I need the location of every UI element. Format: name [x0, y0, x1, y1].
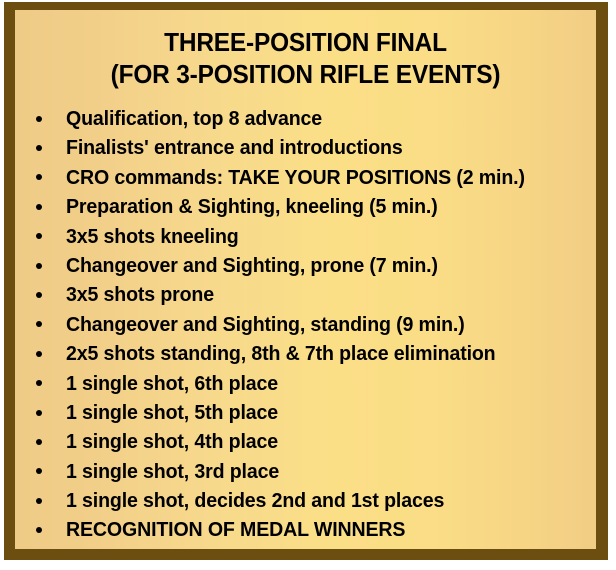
list-item: Qualification, top 8 advance [25, 104, 585, 133]
list-item-label: 1 single shot, 3rd place [66, 457, 279, 486]
list-item: 1 single shot, 3rd place [25, 457, 585, 486]
list-item-label: 1 single shot, decides 2nd and 1st place… [66, 486, 444, 515]
bullet-dot-icon [36, 204, 42, 210]
list-item-label: 1 single shot, 6th place [66, 369, 278, 398]
panel-content: THREE-POSITION FINAL (FOR 3-POSITION RIF… [15, 10, 596, 549]
bullet-dot-icon [36, 468, 42, 474]
bullet-dot-icon [36, 498, 42, 504]
list-item: RECOGNITION OF MEDAL WINNERS [25, 515, 585, 544]
framed-slide-panel: THREE-POSITION FINAL (FOR 3-POSITION RIF… [4, 2, 608, 560]
agenda-list: Qualification, top 8 advanceFinalists' e… [25, 104, 585, 545]
bullet-dot-icon [36, 380, 42, 386]
list-item-label: 1 single shot, 5th place [66, 398, 278, 427]
bullet-dot-icon [36, 351, 42, 357]
list-item-label: 3x5 shots kneeling [66, 222, 239, 251]
bullet-dot-icon [36, 233, 42, 239]
list-item: Changeover and Sighting, standing (9 min… [25, 310, 585, 339]
list-item-label: Finalists' entrance and introductions [66, 133, 403, 162]
bullet-dot-icon [36, 174, 42, 180]
list-item-label: Changeover and Sighting, prone (7 min.) [66, 251, 438, 280]
list-item: 3x5 shots kneeling [25, 222, 585, 251]
bullet-dot-icon [36, 439, 42, 445]
page-title-line-1: THREE-POSITION FINAL [32, 26, 578, 58]
list-item-label: Changeover and Sighting, standing (9 min… [66, 310, 465, 339]
list-item: 2x5 shots standing, 8th & 7th place elim… [25, 339, 585, 368]
page-title-line-2: (FOR 3-POSITION RIFLE EVENTS) [32, 58, 578, 90]
list-item: 1 single shot, decides 2nd and 1st place… [25, 486, 585, 515]
list-item-label: 2x5 shots standing, 8th & 7th place elim… [66, 339, 496, 368]
bullet-dot-icon [36, 527, 42, 533]
bullet-dot-icon [36, 263, 42, 269]
list-item: CRO commands: TAKE YOUR POSITIONS (2 min… [25, 163, 585, 192]
page-title: THREE-POSITION FINAL (FOR 3-POSITION RIF… [15, 26, 596, 90]
list-item: Finalists' entrance and introductions [25, 133, 585, 162]
list-item: Changeover and Sighting, prone (7 min.) [25, 251, 585, 280]
list-item: 3x5 shots prone [25, 280, 585, 309]
list-item-label: 3x5 shots prone [66, 280, 214, 309]
list-item-label: Qualification, top 8 advance [66, 104, 322, 133]
list-item-label: RECOGNITION OF MEDAL WINNERS [66, 515, 405, 544]
bullet-dot-icon [36, 116, 42, 122]
bullet-dot-icon [36, 145, 42, 151]
list-item-label: 1 single shot, 4th place [66, 427, 278, 456]
bullet-dot-icon [36, 292, 42, 298]
list-item: 1 single shot, 4th place [25, 427, 585, 456]
list-item-label: Preparation & Sighting, kneeling (5 min.… [66, 192, 438, 221]
list-item: 1 single shot, 6th place [25, 369, 585, 398]
list-item: Preparation & Sighting, kneeling (5 min.… [25, 192, 585, 221]
bullet-dot-icon [36, 410, 42, 416]
bullet-dot-icon [36, 321, 42, 327]
list-item-label: CRO commands: TAKE YOUR POSITIONS (2 min… [66, 163, 525, 192]
list-item: 1 single shot, 5th place [25, 398, 585, 427]
